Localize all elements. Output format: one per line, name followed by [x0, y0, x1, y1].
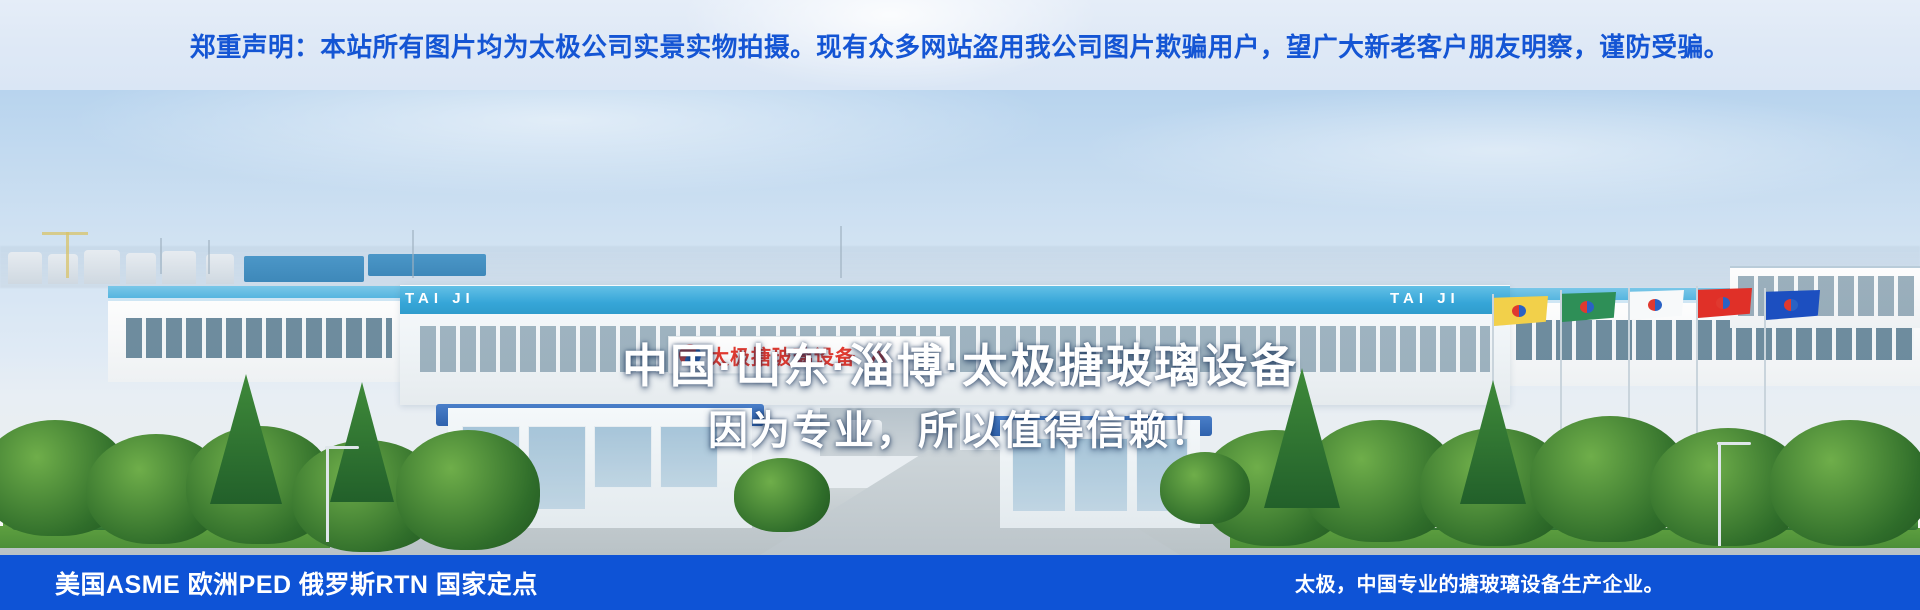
arch-gate-icon — [866, 343, 890, 367]
tree — [396, 430, 540, 550]
storage-tank — [8, 252, 42, 284]
flag-green — [1562, 292, 1616, 322]
utility-pole — [160, 238, 162, 274]
tree — [1770, 420, 1920, 546]
distant-blue-shed — [244, 256, 364, 282]
notice-text: 郑重声明：本站所有图片均为太极公司实景实物拍摄。现有众多网站盗用我公司图片欺骗用… — [190, 27, 1730, 64]
far-road — [820, 408, 960, 456]
band-text-left: TAI JI — [405, 290, 475, 307]
construction-crane-mast — [66, 232, 69, 278]
storage-tank — [162, 251, 196, 284]
taiji-logo-icon — [679, 344, 701, 366]
utility-pole — [840, 226, 842, 278]
parked-van — [848, 420, 882, 442]
storage-tank — [206, 254, 234, 284]
left-wing-windows — [126, 318, 392, 358]
gatehouse-glass — [1074, 438, 1128, 512]
certifications-text: 美国ASME 欧洲PED 俄罗斯RTN 国家定点 — [55, 565, 538, 601]
flag-blue — [1766, 290, 1820, 320]
storage-tank — [48, 254, 78, 284]
flag-white — [1630, 290, 1684, 320]
tree — [734, 458, 830, 532]
bottom-blue-bar: 美国ASME 欧洲PED 俄罗斯RTN 国家定点 太极，中国专业的搪玻璃设备生产… — [0, 555, 1920, 610]
distant-blue-shed — [368, 254, 486, 276]
street-lamp — [1718, 442, 1721, 546]
main-building-windows — [420, 326, 1490, 372]
storage-tank — [84, 250, 120, 284]
flag-yellow — [1494, 296, 1548, 326]
utility-pole — [208, 240, 210, 274]
tagline-text: 太极，中国专业的搪玻璃设备生产企业。 — [1295, 568, 1664, 597]
tree — [1160, 452, 1250, 524]
storage-tank — [126, 253, 156, 284]
gatehouse-glass — [594, 426, 652, 488]
hero-photo: TAI JI TAI JI 太极搪玻璃设备 — [0, 90, 1920, 555]
page-root: 郑重声明：本站所有图片均为太极公司实景实物拍摄。现有众多网站盗用我公司图片欺骗用… — [0, 0, 1920, 610]
construction-crane — [42, 232, 88, 235]
roof-sign: 太极搪玻璃设备 — [668, 336, 950, 374]
main-building-band — [400, 286, 1510, 314]
utility-pole — [412, 230, 414, 278]
notice-bar: 郑重声明：本站所有图片均为太极公司实景实物拍摄。现有众多网站盗用我公司图片欺骗用… — [0, 0, 1920, 90]
band-text-right: TAI JI — [1390, 290, 1460, 307]
flag-red — [1698, 288, 1752, 318]
gatehouse-glass — [1012, 438, 1066, 512]
street-lamp — [326, 446, 329, 542]
roof-sign-text: 太极搪玻璃设备 — [709, 341, 856, 370]
gatehouse-glass — [660, 426, 718, 488]
